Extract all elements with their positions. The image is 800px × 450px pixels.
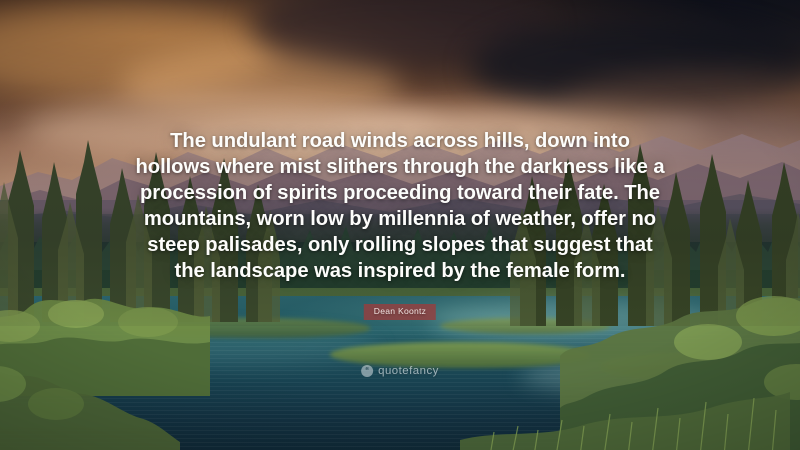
quote-text: The undulant road winds across hills, do… bbox=[120, 128, 680, 284]
author-attribution-badge[interactable]: Dean Koontz bbox=[364, 304, 436, 320]
quote-mark-icon: “ bbox=[361, 365, 373, 377]
quotefancy-watermark[interactable]: “ quotefancy bbox=[361, 365, 439, 377]
quote-wallpaper: The undulant road winds across hills, do… bbox=[0, 0, 800, 450]
watermark-brand-label: quotefancy bbox=[378, 365, 439, 377]
quote-overlay: The undulant road winds across hills, do… bbox=[0, 0, 800, 450]
